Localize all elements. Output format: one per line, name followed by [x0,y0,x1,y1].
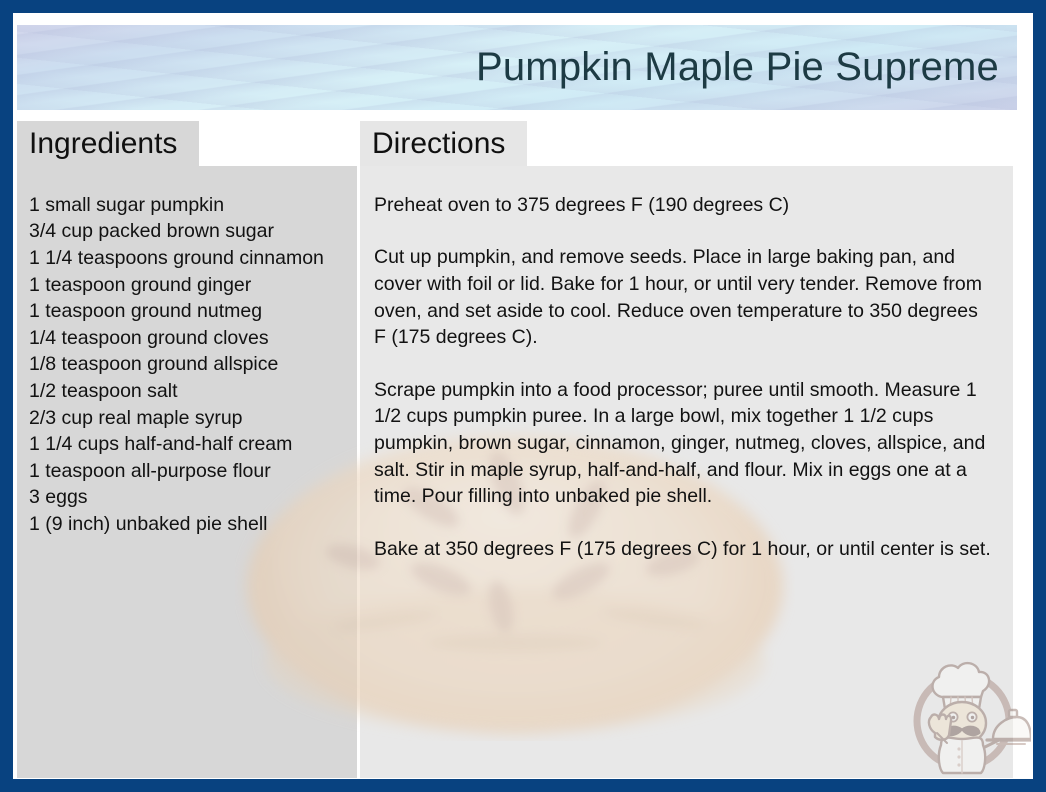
list-item: 3 eggs [29,484,343,511]
list-item: 1 teaspoon ground ginger [29,272,343,299]
list-item: 1 1/4 teaspoons ground cinnamon [29,245,343,272]
list-item: 1 small sugar pumpkin [29,192,343,219]
direction-step: Bake at 350 degrees F (175 degrees C) fo… [374,536,995,563]
direction-step: Cut up pumpkin, and remove seeds. Place … [374,244,995,350]
directions-heading: Directions [360,121,527,166]
ingredients-list: 1 small sugar pumpkin 3/4 cup packed bro… [29,192,343,538]
directions-panel: Preheat oven to 375 degrees F (190 degre… [360,166,1013,778]
recipe-body: Ingredients 1 small sugar pumpkin 3/4 cu… [13,121,1033,779]
list-item: 3/4 cup packed brown sugar [29,218,343,245]
direction-step: Preheat oven to 375 degrees F (190 degre… [374,192,995,219]
list-item: 1/8 teaspoon ground allspice [29,351,343,378]
list-item: 1 teaspoon ground nutmeg [29,298,343,325]
title-banner: Pumpkin Maple Pie Supreme [17,25,1017,110]
list-item: 1 (9 inch) unbaked pie shell [29,511,343,538]
list-item: 2/3 cup real maple syrup [29,405,343,432]
directions-column: Directions Preheat oven to 375 degrees F… [360,121,1013,778]
directions-text: Preheat oven to 375 degrees F (190 degre… [374,192,995,563]
direction-step: Scrape pumpkin into a food processor; pu… [374,377,995,510]
recipe-card-inner: Pumpkin Maple Pie Supreme [13,13,1033,779]
recipe-card: Pumpkin Maple Pie Supreme [0,0,1046,792]
ingredients-panel: 1 small sugar pumpkin 3/4 cup packed bro… [17,166,357,778]
ingredients-column: Ingredients 1 small sugar pumpkin 3/4 cu… [17,121,357,778]
list-item: 1/4 teaspoon ground cloves [29,325,343,352]
ingredients-heading: Ingredients [17,121,199,166]
list-item: 1/2 teaspoon salt [29,378,343,405]
page-title: Pumpkin Maple Pie Supreme [476,45,1017,90]
list-item: 1 1/4 cups half-and-half cream [29,431,343,458]
list-item: 1 teaspoon all-purpose flour [29,458,343,485]
